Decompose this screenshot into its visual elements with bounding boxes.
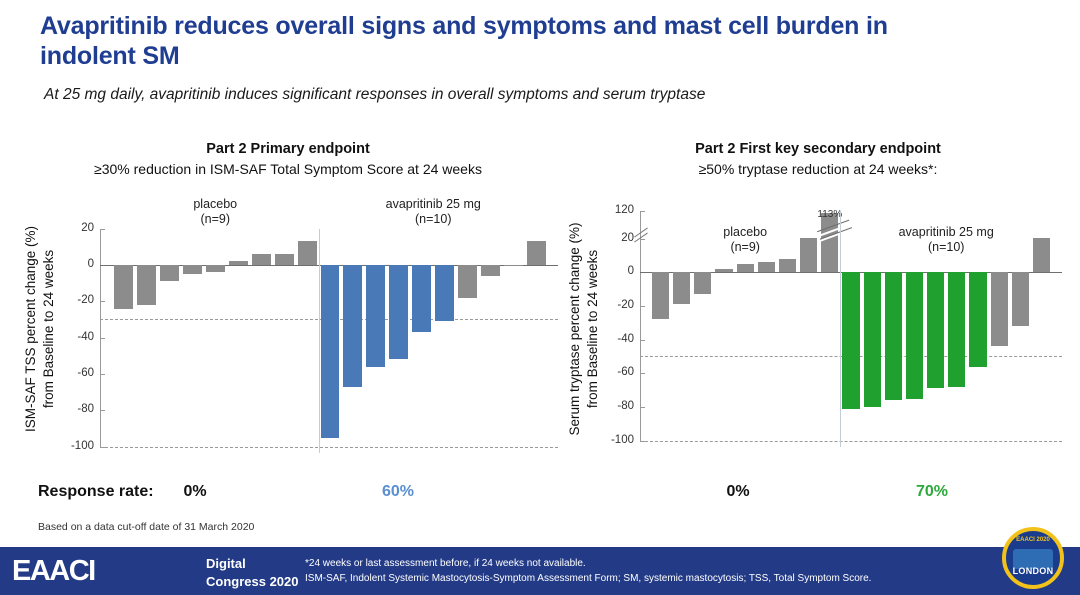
bar-left-8	[298, 241, 317, 265]
bar-left-6	[252, 254, 271, 265]
bar-right-18	[1033, 238, 1050, 272]
bar-right-5	[758, 262, 775, 272]
chart-left-title: Part 2 Primary endpoint	[18, 140, 558, 158]
chart-ytick--80: -80	[600, 400, 634, 412]
bar-right-12	[906, 272, 923, 398]
reference-line--100	[640, 441, 1062, 442]
bar-left-17	[504, 265, 523, 267]
chart-left-plot: ISM-SAF TSS percent change (%) from Base…	[18, 197, 558, 462]
congress-name: Digital Congress 2020	[206, 555, 299, 590]
footer-bar: EAACI Digital Congress 2020 *24 weeks or…	[0, 547, 1080, 595]
group-label-avapritinib-25-mg: avapritinib 25 mg(n=10)	[861, 225, 1031, 256]
response-rate-label: Response rate:	[38, 483, 154, 501]
bar-left-18	[527, 241, 546, 265]
group-label-count: (n=9)	[660, 240, 830, 256]
bar-left-10	[343, 265, 362, 387]
bar-right-6	[779, 259, 796, 272]
bar-left-13	[412, 265, 431, 332]
group-label-name: avapritinib 25 mg	[348, 197, 518, 213]
page-subtitle: At 25 mg daily, avapritinib induces sign…	[44, 86, 1004, 104]
bar-right-13	[927, 272, 944, 388]
bar-left-11	[366, 265, 385, 367]
response-rate-right-treatment: 70%	[892, 483, 972, 501]
bar-right-4	[737, 264, 754, 272]
group-label-name: placebo	[130, 197, 300, 213]
chart-right-title: Part 2 First key secondary endpoint	[562, 140, 1074, 158]
group-label-placebo: placebo(n=9)	[660, 225, 830, 256]
group-label-name: avapritinib 25 mg	[861, 225, 1031, 241]
chart-ytick--60: -60	[60, 367, 94, 379]
chart-ytick-0: 0	[60, 258, 94, 270]
chart-ytick-20: 20	[60, 222, 94, 234]
bar-left-0	[114, 265, 133, 309]
response-rate-right-placebo: 0%	[698, 483, 778, 501]
chart-ytick--80: -80	[60, 403, 94, 415]
bar-right-11	[885, 272, 902, 400]
bar-right-2	[694, 272, 711, 294]
chart-left-subtitle: ≥30% reduction in ISM-SAF Total Symptom …	[18, 161, 558, 179]
bar-left-15	[458, 265, 477, 298]
group-label-count: (n=9)	[130, 212, 300, 228]
chart-y-axis	[100, 229, 101, 447]
london-badge-icon: EAACI 2020 LONDON	[1002, 527, 1064, 589]
bar-left-2	[160, 265, 179, 281]
bar-right-17	[1012, 272, 1029, 326]
footnote-abbreviations: ISM-SAF, Indolent Systemic Mastocytosis-…	[305, 571, 871, 586]
chart-panel-left: Part 2 Primary endpoint ≥30% reduction i…	[18, 140, 558, 462]
chart-ytick--100: -100	[60, 440, 94, 452]
badge-top-text: EAACI 2020	[1006, 537, 1060, 543]
chart-left-ylabel-line2: from Baseline to 24 weeks	[40, 226, 58, 432]
bar-right-9	[842, 272, 859, 408]
bar-left-1	[137, 265, 156, 305]
chart-ytick-20: 20	[600, 232, 634, 244]
response-rate-left-placebo: 0%	[155, 483, 235, 501]
bar-left-12	[389, 265, 408, 359]
congress-line1: Digital	[206, 555, 299, 573]
chart-ytick--40: -40	[60, 331, 94, 343]
bar-left-9	[321, 265, 340, 438]
group-label-avapritinib-25-mg: avapritinib 25 mg(n=10)	[348, 197, 518, 228]
response-rate-left-treatment: 60%	[358, 483, 438, 501]
group-label-count: (n=10)	[348, 212, 518, 228]
bar-right-16	[991, 272, 1008, 346]
group-label-count: (n=10)	[861, 240, 1031, 256]
chart-ytick--100: -100	[600, 434, 634, 446]
chart-panel-right: Part 2 First key secondary endpoint ≥50%…	[562, 140, 1074, 462]
bar-right-14	[948, 272, 965, 386]
bar-value-annotation: 113%	[813, 209, 846, 220]
bar-left-16	[481, 265, 500, 276]
chart-ytick--20: -20	[60, 294, 94, 306]
chart-right-ylabel-line1: Serum tryptase percent change (%)	[566, 223, 584, 436]
group-label-placebo: placebo(n=9)	[130, 197, 300, 228]
bar-right-15	[969, 272, 986, 366]
bar-left-4	[206, 265, 225, 272]
footer-notes: *24 weeks or last assessment before, if …	[305, 556, 871, 586]
group-divider	[840, 211, 841, 447]
page-title: Avapritinib reduces overall signs and sy…	[40, 12, 980, 71]
group-label-name: placebo	[660, 225, 830, 241]
congress-line2: Congress 2020	[206, 573, 299, 591]
bar-left-14	[435, 265, 454, 321]
chart-left-ylabel: ISM-SAF TSS percent change (%) from Base…	[18, 197, 62, 462]
footnote-asterisk: *24 weeks or last assessment before, if …	[305, 556, 871, 571]
chart-ytick--60: -60	[600, 366, 634, 378]
chart-right-plot: Serum tryptase percent change (%) from B…	[562, 197, 1074, 462]
group-divider	[319, 229, 320, 453]
bar-left-7	[275, 254, 294, 265]
chart-ytick-120: 120	[600, 204, 634, 216]
data-cutoff-note: Based on a data cut-off date of 31 March…	[38, 521, 254, 533]
bar-right-1	[673, 272, 690, 304]
eaaci-wordmark: EAACI	[12, 555, 95, 588]
bar-left-3	[183, 265, 202, 274]
chart-left-ylabel-line1: ISM-SAF TSS percent change (%)	[22, 226, 40, 432]
chart-right-subtitle: ≥50% tryptase reduction at 24 weeks*:	[562, 161, 1074, 179]
bar-right-0	[652, 272, 669, 319]
y-axis-break-icon	[633, 227, 649, 243]
bar-right-10	[864, 272, 881, 407]
chart-y-axis	[640, 211, 641, 441]
chart-ytick--40: -40	[600, 333, 634, 345]
chart-ytick--20: -20	[600, 299, 634, 311]
bar-left-5	[229, 261, 248, 265]
reference-line--100	[100, 447, 558, 448]
bar-right-3	[715, 269, 732, 272]
slide-root: Avapritinib reduces overall signs and sy…	[0, 0, 1080, 595]
badge-bottom-text: LONDON	[1006, 566, 1060, 576]
chart-ytick-0: 0	[600, 265, 634, 277]
